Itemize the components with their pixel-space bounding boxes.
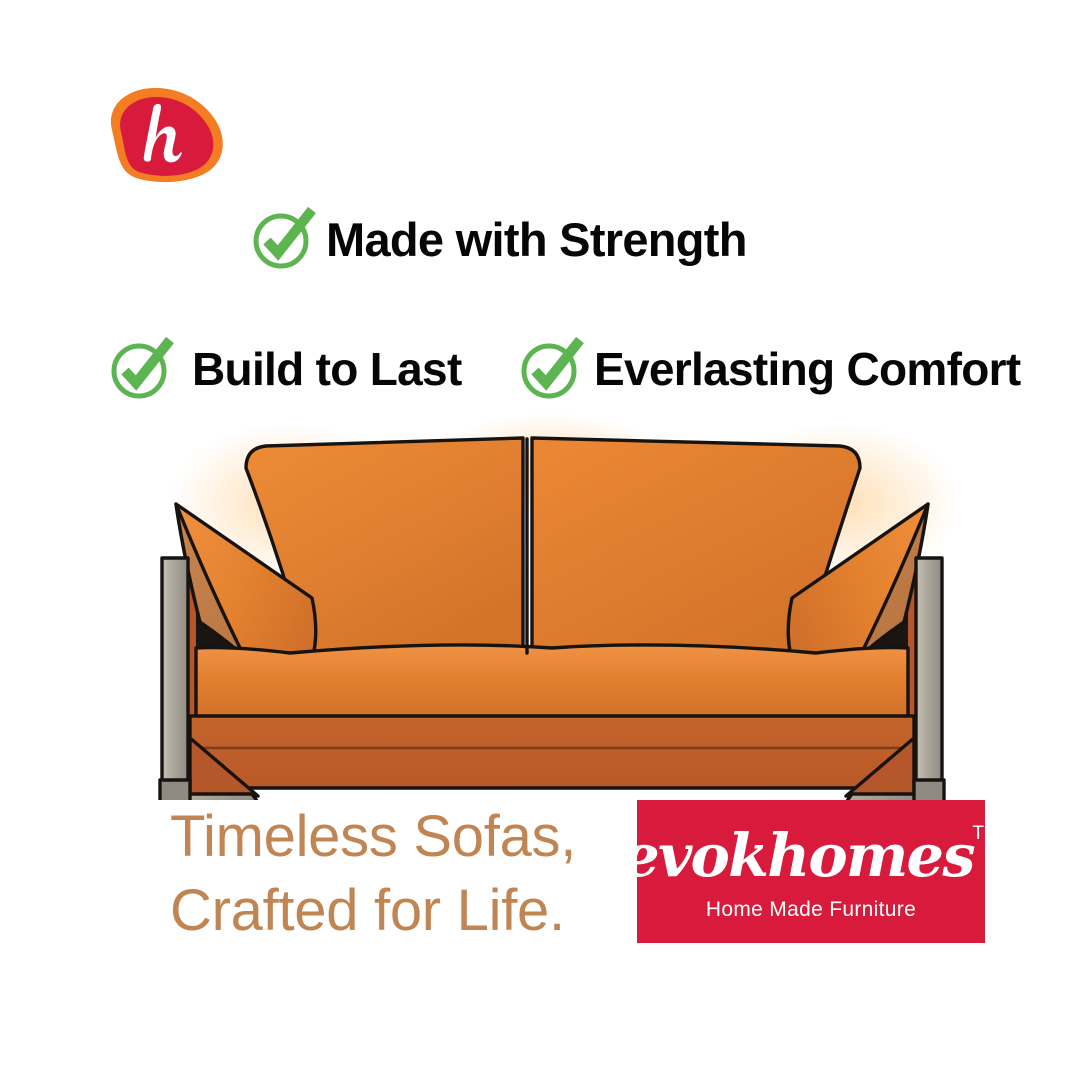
feature-label: Made with Strength [326,216,747,263]
green-check-circle-icon [250,206,316,272]
h-blob-logo [96,84,232,186]
tagline-line-2: Crafted for Life. [170,874,620,948]
feature-row-comfort: Everlasting Comfort [518,336,1021,402]
sofa-leg-left-post [162,558,188,800]
orange-sofa-illustration [140,408,964,800]
tagline-line-1: Timeless Sofas, [170,800,620,874]
green-check-circle-icon [108,336,174,402]
feature-row-strength: Made with Strength [250,206,747,272]
trademark-symbol: TM [972,824,999,843]
sofa-foot-right [914,780,944,800]
brand-wordmark: evokhomes TM [622,826,1000,885]
sofa-base [190,716,914,788]
sofa-leg-right-post [916,558,942,800]
tagline: Timeless Sofas, Crafted for Life. [170,800,620,948]
brand-subtitle: Home Made Furniture [706,899,916,920]
sofa-foot-left [160,780,190,800]
green-check-circle-icon [518,336,584,402]
feature-label: Build to Last [192,346,462,392]
evokhomes-logo-badge: evokhomes TM Home Made Furniture [637,800,985,943]
feature-row-build: Build to Last [108,336,462,402]
feature-label: Everlasting Comfort [594,346,1021,392]
brand-wordmark-text: evokhomes [622,821,974,890]
sofa-seat-cushion [196,645,908,718]
ad-creative-canvas: Made with Strength Build to Last Everlas… [0,0,1080,1080]
